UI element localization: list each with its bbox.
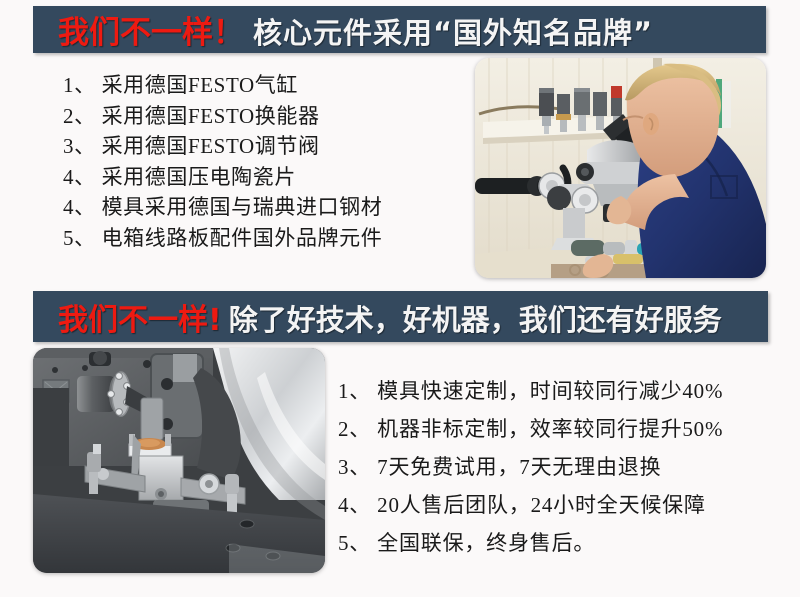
list-item-index: 1、 (338, 372, 371, 410)
list-item-text: 采用德国FESTO换能器 (102, 101, 320, 132)
microscope-scene-illustration (475, 58, 766, 278)
list-item-index: 1、 (63, 70, 96, 101)
list-item: 5、 全国联保，终身售后。 (338, 524, 723, 562)
list-item: 3、 7天免费试用，7天无理由退换 (338, 448, 723, 486)
precision-tooling-fixture-photo (33, 348, 325, 573)
promo-page: 我们不一样！ 核心元件采用“国外知名品牌” 1、 采用德国FESTO气缸 2、 … (0, 0, 800, 597)
list-item-text: 模具快速定制，时间较同行减少40% (377, 372, 723, 410)
list-item-index: 3、 (63, 131, 96, 162)
list-item-index: 5、 (338, 524, 371, 562)
list-item-index: 2、 (338, 410, 371, 448)
list-item: 4、 模具采用德国与瑞典进口钢材 (63, 192, 382, 223)
list-item-index: 2、 (63, 101, 96, 132)
list-item: 5、 电箱线路板配件国外品牌元件 (63, 223, 382, 254)
list-item-index: 3、 (338, 448, 371, 486)
list-item: 4、 采用德国压电陶瓷片 (63, 162, 382, 193)
list-item-text: 20人售后团队，24小时全天候保障 (377, 486, 706, 524)
list-item: 2、 机器非标定制，效率较同行提升50% (338, 410, 723, 448)
section-2-banner-inner: 我们不一样! 除了好技术，好机器，我们还有好服务 (33, 295, 722, 339)
list-item-text: 采用德国FESTO气缸 (102, 70, 298, 101)
section-2-feature-list: 1、 模具快速定制，时间较同行减少40% 2、 机器非标定制，效率较同行提升50… (338, 372, 723, 562)
machine-fixture-illustration (33, 348, 325, 573)
list-item-index: 4、 (63, 192, 96, 223)
section-1-feature-list: 1、 采用德国FESTO气缸 2、 采用德国FESTO换能器 3、 采用德国FE… (63, 70, 382, 253)
section-1-banner-headline: 核心元件采用“国外知名品牌” (244, 10, 653, 52)
list-item-index: 5、 (63, 223, 96, 254)
list-item-index: 4、 (63, 162, 96, 193)
section-2-banner: 我们不一样! 除了好技术，好机器，我们还有好服务 (33, 291, 768, 342)
section-1-banner-inner: 我们不一样！ 核心元件采用“国外知名品牌” (33, 7, 653, 52)
list-item: 3、 采用德国FESTO调节阀 (63, 131, 382, 162)
list-item-text: 全国联保，终身售后。 (377, 524, 595, 562)
list-item-text: 模具采用德国与瑞典进口钢材 (102, 192, 383, 223)
technician-at-microscope-photo (475, 58, 766, 278)
list-item-text: 采用德国压电陶瓷片 (102, 162, 296, 193)
list-item: 4、 20人售后团队，24小时全天候保障 (338, 486, 723, 524)
list-item: 1、 采用德国FESTO气缸 (63, 70, 382, 101)
section-2-banner-highlight: 我们不一样! (58, 295, 222, 339)
section-1-banner: 我们不一样！ 核心元件采用“国外知名品牌” (33, 6, 766, 53)
section-1-banner-highlight: 我们不一样！ (58, 7, 244, 52)
section-2-banner-headline: 除了好技术，好机器，我们还有好服务 (222, 297, 722, 339)
list-item-text: 机器非标定制，效率较同行提升50% (377, 410, 723, 448)
list-item: 2、 采用德国FESTO换能器 (63, 101, 382, 132)
list-item-index: 4、 (338, 486, 371, 524)
list-item-text: 采用德国FESTO调节阀 (102, 131, 320, 162)
list-item-text: 7天免费试用，7天无理由退换 (377, 448, 661, 486)
list-item-text: 电箱线路板配件国外品牌元件 (102, 223, 383, 254)
list-item: 1、 模具快速定制，时间较同行减少40% (338, 372, 723, 410)
